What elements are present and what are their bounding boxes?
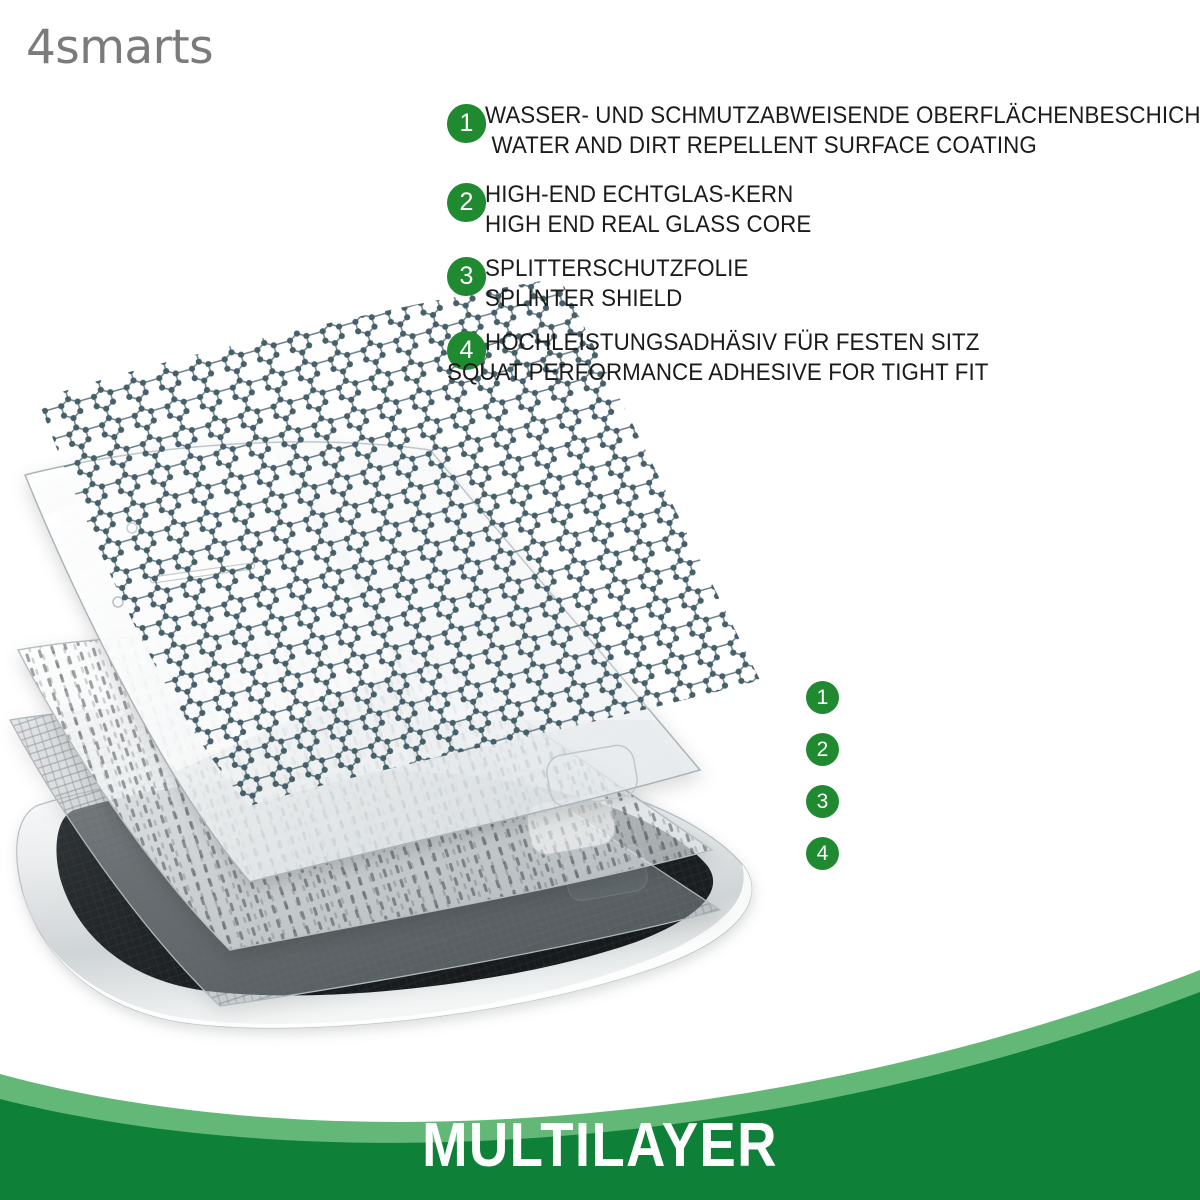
legend-line-en-4: SQUAT PERFORMANCE ADHESIVE FOR TIGHT FIT [447, 358, 1140, 388]
banner-title: MULTILAYER [72, 1115, 1128, 1177]
legend-item-4: 4 HOCHLEISTUNGSADHÄSIV FÜR FESTEN SITZ S… [447, 328, 1192, 390]
legend-badge-1: 1 [447, 104, 486, 143]
legend-line-de-2: HIGH-END ECHTGLAS-KERN [485, 180, 1143, 210]
legend-line-de-4: HOCHLEISTUNGSADHÄSIV FÜR FESTEN SITZ [485, 328, 1143, 358]
callout-number-4: 4 [806, 837, 839, 870]
layer-callouts: 1 2 3 4 [806, 681, 839, 870]
legend-text-4: HOCHLEISTUNGSADHÄSIV FÜR FESTEN SITZ SQU… [485, 328, 1192, 388]
legend-line-en-3: SPLINTER SHIELD [485, 284, 1143, 314]
bottom-banner: MULTILAYER [0, 970, 1200, 1200]
legend-badge-3: 3 [447, 257, 486, 296]
legend-item-3: 3 SPLITTERSCHUTZFOLIE SPLINTER SHIELD [447, 254, 1192, 316]
legend-line-de-1: WASSER- UND SCHMUTZABWEISENDE OBERFLÄCHE… [485, 101, 1143, 131]
legend-line-en-2: HIGH END REAL GLASS CORE [485, 210, 1143, 240]
legend-line-en-1: WATER AND DIRT REPELLENT SURFACE COATING [485, 131, 1143, 161]
legend-badge-2: 2 [447, 183, 486, 222]
legend-text-1: WASSER- UND SCHMUTZABWEISENDE OBERFLÄCHE… [485, 101, 1192, 161]
brand-logo: 4smarts [26, 24, 213, 71]
feature-legend: 1 WASSER- UND SCHMUTZABWEISENDE OBERFLÄC… [447, 101, 1192, 404]
legend-text-3: SPLITTERSCHUTZFOLIE SPLINTER SHIELD [485, 254, 1192, 314]
legend-item-2: 2 HIGH-END ECHTGLAS-KERN HIGH END REAL G… [447, 180, 1192, 242]
callout-number-1: 1 [806, 681, 839, 714]
legend-line-de-3: SPLITTERSCHUTZFOLIE [485, 254, 1143, 284]
callout-number-3: 3 [806, 785, 839, 818]
legend-item-1: 1 WASSER- UND SCHMUTZABWEISENDE OBERFLÄC… [447, 101, 1192, 163]
infographic-canvas: 4smarts [0, 0, 1200, 1200]
legend-text-2: HIGH-END ECHTGLAS-KERN HIGH END REAL GLA… [485, 180, 1192, 240]
callout-number-2: 2 [806, 733, 839, 766]
